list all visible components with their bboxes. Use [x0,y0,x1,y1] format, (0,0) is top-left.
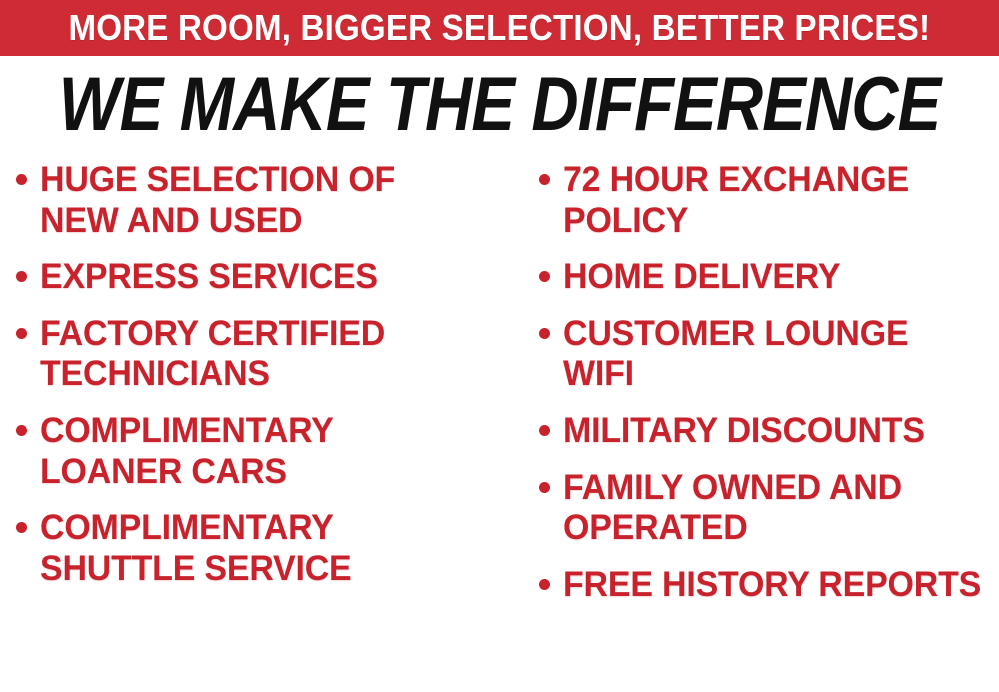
bullet-dot-icon [16,328,27,339]
bullet-dot-icon [16,174,27,185]
bullet-dot-icon [16,425,27,436]
list-item: COMPLIMENTARY LOANER CARS [16,411,515,492]
list-item-label: CUSTOMER LOUNGE WIFI [563,314,986,395]
bullet-dot-icon [539,425,550,436]
benefits-columns: HUGE SELECTION OF NEW AND USED EXPRESS S… [0,160,999,692]
bullet-dot-icon [16,522,27,533]
dealership-benefits-ad: MORE ROOM, BIGGER SELECTION, BETTER PRIC… [0,0,999,692]
list-item-label: MILITARY DISCOUNTS [563,411,925,452]
list-item-label: COMPLIMENTARY LOANER CARS [40,411,457,492]
list-item-label: 72 HOUR EXCHANGE POLICY [563,160,986,241]
list-item-label: COMPLIMENTARY SHUTTLE SERVICE [40,508,457,589]
bullet-dot-icon [16,271,27,282]
list-item: FACTORY CERTIFIED TECHNICIANS [16,314,515,395]
bullet-dot-icon [539,579,550,590]
list-item-label: FACTORY CERTIFIED TECHNICIANS [40,314,457,395]
list-item: CUSTOMER LOUNGE WIFI [539,314,999,395]
list-item: HOME DELIVERY [539,257,999,298]
benefits-column-right: 72 HOUR EXCHANGE POLICY HOME DELIVERY CU… [515,160,999,692]
list-item: FREE HISTORY REPORTS [539,565,999,606]
bullet-dot-icon [539,271,550,282]
list-item: EXPRESS SERVICES [16,257,515,298]
list-item: HUGE SELECTION OF NEW AND USED [16,160,515,241]
list-item: MILITARY DISCOUNTS [539,411,999,452]
bullet-dot-icon [539,174,550,185]
list-item-label: FAMILY OWNED AND OPERATED [563,468,986,549]
list-item: COMPLIMENTARY SHUTTLE SERVICE [16,508,515,589]
list-item-label: FREE HISTORY REPORTS [563,565,981,606]
top-promo-banner: MORE ROOM, BIGGER SELECTION, BETTER PRIC… [0,0,999,56]
list-item-label: EXPRESS SERVICES [40,257,378,298]
list-item-label: HOME DELIVERY [563,257,840,298]
page-title: WE MAKE THE DIFFERENCE [59,67,941,143]
headline-container: WE MAKE THE DIFFERENCE [0,58,999,152]
list-item: 72 HOUR EXCHANGE POLICY [539,160,999,241]
bullet-dot-icon [539,482,550,493]
list-item: FAMILY OWNED AND OPERATED [539,468,999,549]
bullet-dot-icon [539,328,550,339]
benefits-column-left: HUGE SELECTION OF NEW AND USED EXPRESS S… [0,160,515,692]
list-item-label: HUGE SELECTION OF NEW AND USED [40,160,457,241]
top-promo-banner-text: MORE ROOM, BIGGER SELECTION, BETTER PRIC… [69,10,931,46]
